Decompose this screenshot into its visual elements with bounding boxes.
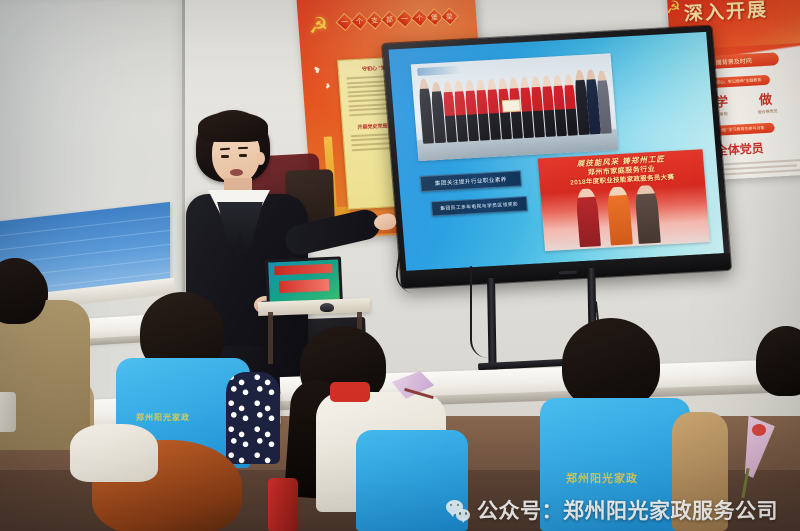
presenter-fringe [198, 112, 268, 142]
audience-red-scarf [330, 382, 370, 402]
slide-photo-award: 展技能风采 铸郑州工匠 郑州市家庭服务行业 2018年度职业技能家政服务员大赛 [538, 149, 711, 251]
presenter-mouth [230, 169, 243, 176]
vest-logo-text: 郑州阳光家政 [136, 412, 190, 423]
poster-big-char-zuo: 做 [758, 89, 772, 109]
hammer-sickle-icon: ☭ [667, 0, 682, 18]
audience-scarf-white [70, 424, 158, 482]
hammer-sickle-icon: ☭ [308, 14, 336, 37]
dove-icon: ❥ [324, 82, 331, 91]
vest-logo-text: 郑州阳光家政 [566, 470, 638, 486]
poster-sub-right: 做合格党员 [757, 108, 777, 115]
slide-photo-group [410, 53, 618, 162]
presenter-eye [221, 155, 229, 158]
award-banner-text: 展技能风采 铸郑州工匠 郑州市家庭服务行业 2018年度职业技能家政服务员大赛 [543, 153, 701, 190]
watermark: 公众号：郑州阳光家政服务公司 [446, 495, 778, 525]
tv-power-led [559, 270, 577, 274]
slide-caption-1: 集团关注提升行业职业素养 [419, 170, 522, 192]
wechat-icon [446, 500, 470, 521]
wall-tv: 展技能风采 铸郑州工匠 郑州市家庭服务行业 2018年度职业技能家政服务员大赛 … [382, 26, 731, 289]
watermark-text: 公众号：郑州阳光家政服务公司 [477, 495, 778, 525]
thermos-cup [268, 478, 298, 531]
flower-head [752, 424, 766, 436]
poster-members-label: 全体党员 [715, 139, 764, 159]
audience-polkadot-sleeve [226, 372, 280, 464]
tv-screen: 展技能风采 铸郑州工匠 郑州市家庭服务行业 2018年度职业技能家政服务员大赛 … [388, 32, 723, 271]
presenter-ear [256, 152, 265, 165]
certificate-icon [502, 99, 521, 113]
audience-head [562, 318, 660, 410]
presenter-eye [239, 154, 247, 157]
tv-cable [470, 266, 488, 358]
slide-logo [417, 66, 462, 76]
mouse-icon [320, 303, 334, 312]
photo-scene: ☭ 一 个 支 部 一 个 堡 垒 ❥ ❥ 守初心 "党" 担当正本党史 开展党… [0, 0, 800, 531]
thermos-cup [0, 392, 16, 432]
slide-caption-2: 集团员工多年电视与学员区领奖影 [431, 196, 527, 216]
